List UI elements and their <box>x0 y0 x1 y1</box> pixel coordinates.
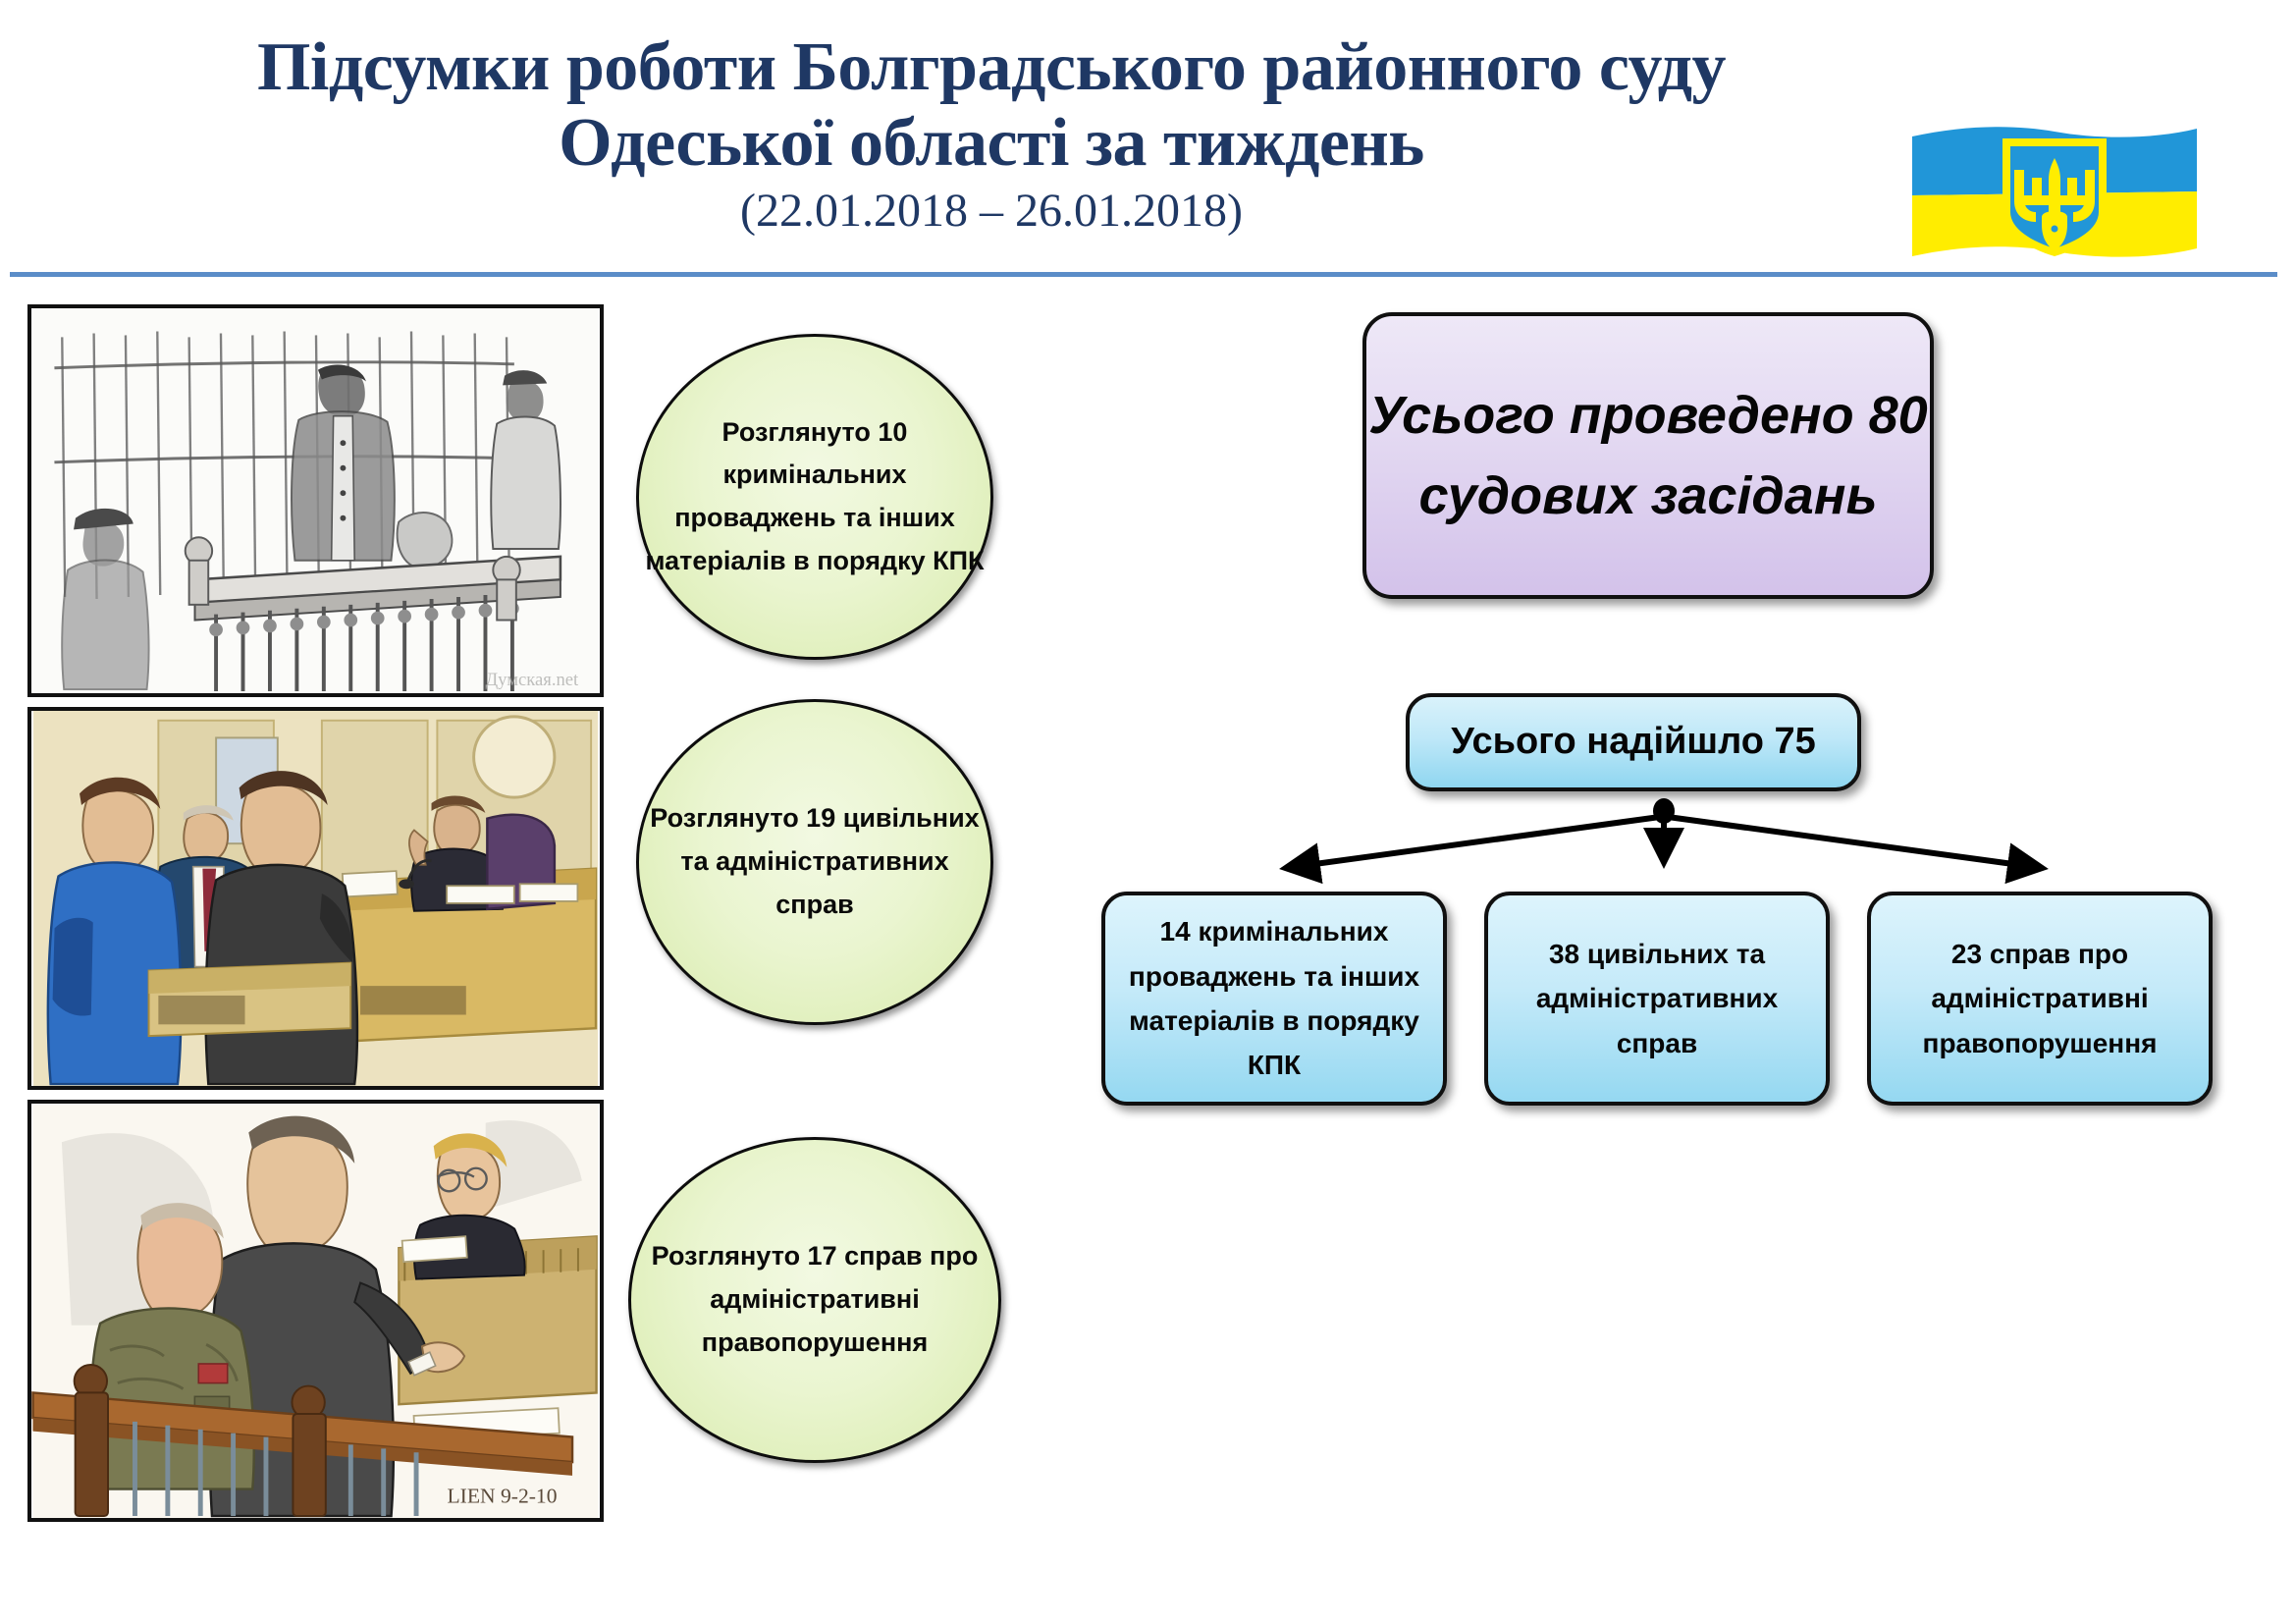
page-header: Підсумки роботи Болградського районного … <box>0 0 2296 280</box>
total-received-box: Усього надійшло 75 <box>1406 693 1861 791</box>
courtroom-photo-column: Думская.net <box>27 304 604 1522</box>
administrative-received-box: 23 справ про адміністративні правопоруше… <box>1867 892 2213 1106</box>
total-sessions-box: Усього проведено 80 судових засідань <box>1362 312 1934 599</box>
criminal-received-label: 14 кримінальних проваджень та інших мате… <box>1105 909 1443 1087</box>
administrative-offences-ellipse-label: Розглянуто 17 справ про адміністративні … <box>631 1235 998 1364</box>
total-received-label: Усього надійшло 75 <box>1451 720 1816 765</box>
administrative-received-label: 23 справ про адміністративні правопоруше… <box>1871 932 2209 1065</box>
tree-connector-arrows <box>1099 791 2228 903</box>
title-line-2: Одеської області за тиждень <box>79 105 1904 181</box>
courtroom-sketch-military-defendant: LIEN 9-2-10 <box>27 1100 604 1522</box>
criminal-proceedings-ellipse-label: Розглянуто 10 кримінальних проваджень та… <box>639 411 990 583</box>
civil-received-box: 38 цивільних та адміністративних справ <box>1484 892 1830 1106</box>
svg-text:LIEN 9-2-10: LIEN 9-2-10 <box>447 1484 557 1507</box>
civil-administrative-cases-ellipse-label: Розглянуто 19 цивільних та адміністратив… <box>639 797 990 926</box>
title-line-1: Підсумки роботи Болградського районного … <box>79 29 1904 105</box>
total-sessions-label: Усього проведено 80 судових засідань <box>1366 375 1930 536</box>
courtroom-sketch-defendant-behind-bars: Думская.net <box>27 304 604 697</box>
courtroom-sketch-attorneys-before-judge <box>27 707 604 1090</box>
criminal-received-box: 14 кримінальних проваджень та інших мате… <box>1101 892 1447 1106</box>
svg-text:Думская.net: Думская.net <box>485 670 579 690</box>
civil-administrative-cases-ellipse: Розглянуто 19 цивільних та адміністратив… <box>636 699 993 1025</box>
title-date-range: (22.01.2018 – 26.01.2018) <box>79 185 1904 238</box>
header-divider <box>10 272 2277 277</box>
criminal-proceedings-ellipse: Розглянуто 10 кримінальних проваджень та… <box>636 334 993 660</box>
ukraine-flag-tryzub-icon <box>1912 123 2197 260</box>
civil-received-label: 38 цивільних та адміністративних справ <box>1488 932 1826 1065</box>
page-title: Підсумки роботи Болградського районного … <box>79 29 1904 238</box>
administrative-offences-ellipse: Розглянуто 17 справ про адміністративні … <box>628 1137 1001 1463</box>
